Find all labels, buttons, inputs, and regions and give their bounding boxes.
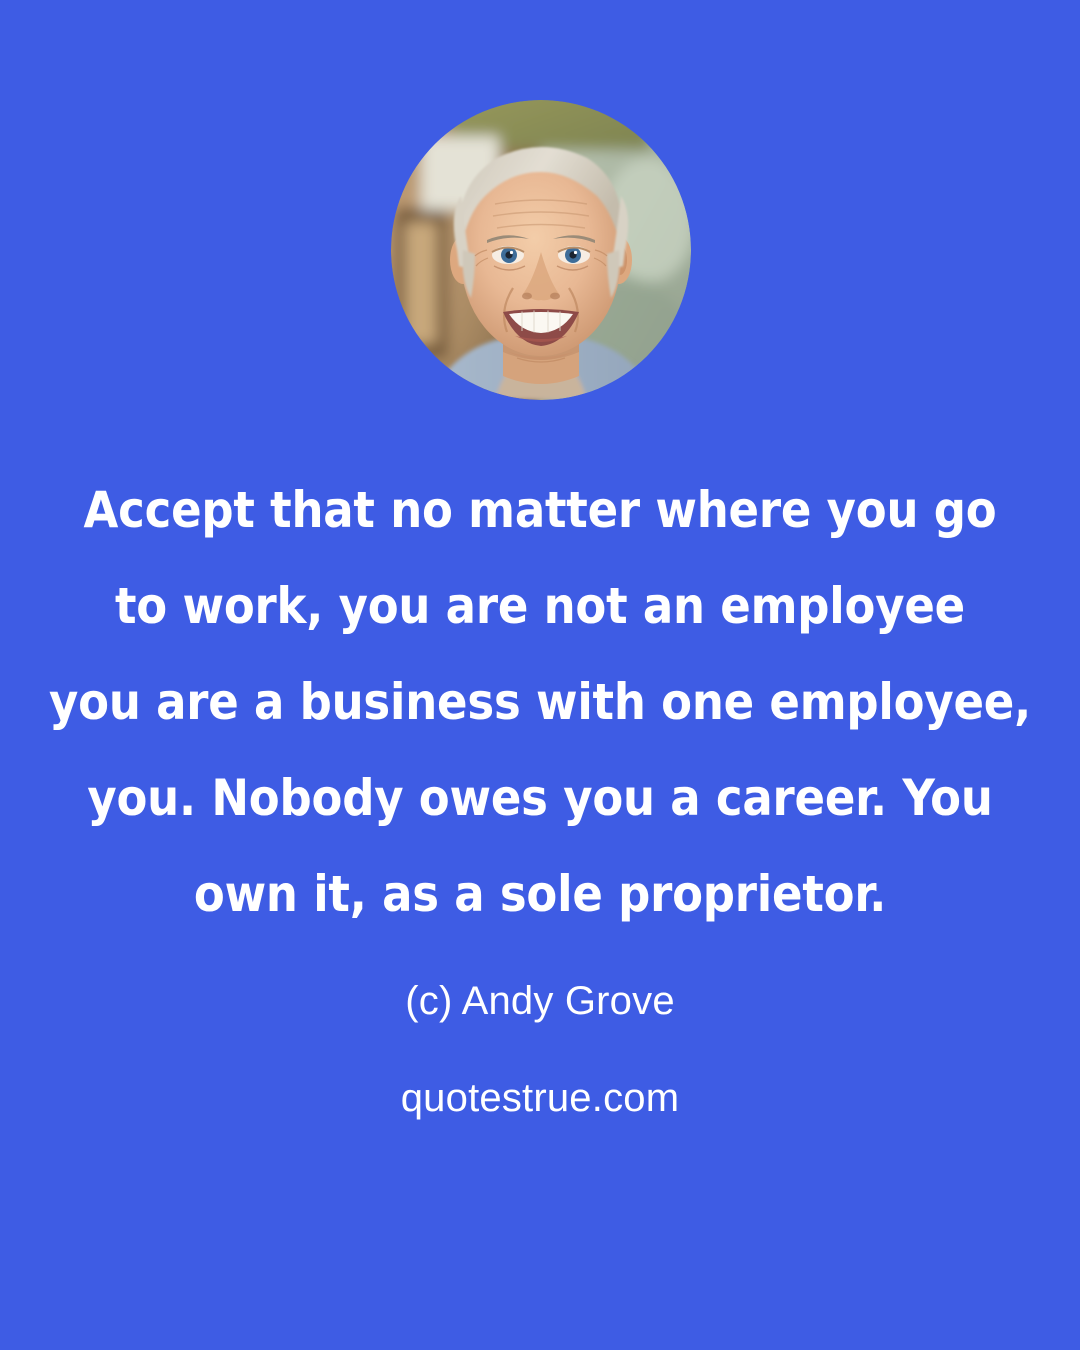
quote-line: you are a business with one employee, — [0, 654, 1080, 750]
quote-line: you. Nobody owes you a career. You — [0, 750, 1080, 846]
quote-card: Accept that no matter where you go to wo… — [0, 0, 1080, 1350]
site-url: quotestrue.com — [0, 1072, 1080, 1124]
author-portrait-avatar — [391, 100, 691, 400]
quote-line: Accept that no matter where you go — [0, 462, 1080, 558]
quote-line: to work, you are not an employee — [0, 558, 1080, 654]
quote-line: own it, as a sole proprietor. — [0, 846, 1080, 942]
author-attribution: (c) Andy Grove — [0, 975, 1080, 1027]
quote-text: Accept that no matter where you go to wo… — [0, 462, 1080, 942]
portrait-illustration — [391, 100, 691, 400]
